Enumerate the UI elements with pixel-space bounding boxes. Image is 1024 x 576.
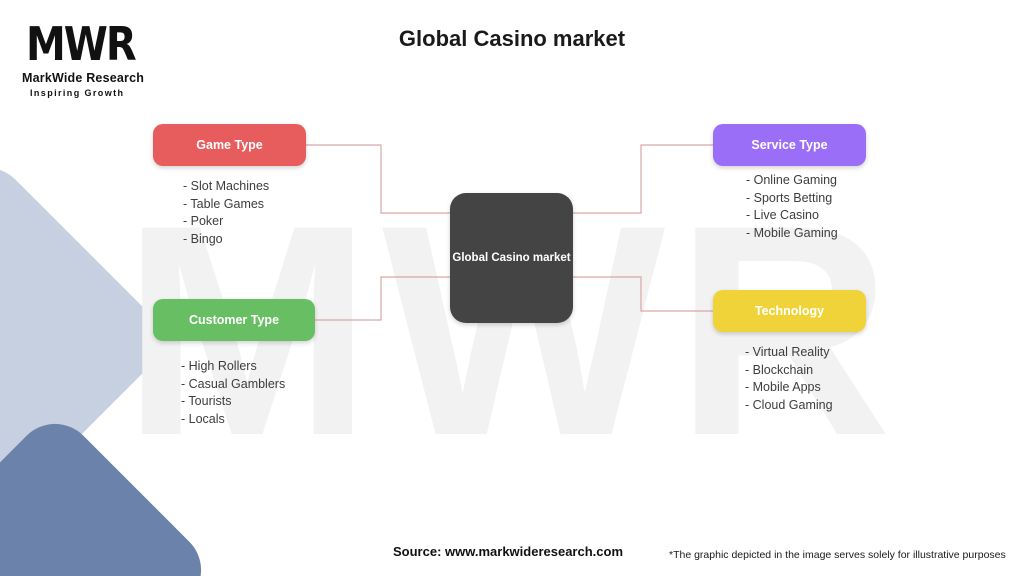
list-item: - Mobile Apps (745, 379, 833, 397)
disclaimer-note: *The graphic depicted in the image serve… (669, 549, 1006, 561)
center-node[interactable]: Global Casino market (450, 193, 573, 323)
list-item: - Slot Machines (183, 178, 269, 196)
list-item: - Live Casino (746, 207, 838, 225)
list-item: - Cloud Gaming (745, 397, 833, 415)
branch-label-customer-type: Customer Type (189, 313, 279, 327)
list-item: - Online Gaming (746, 172, 838, 190)
list-item: - Tourists (181, 393, 285, 411)
branch-label-game-type: Game Type (196, 138, 262, 152)
branch-node-game-type[interactable]: Game Type (153, 124, 306, 166)
list-item: - Poker (183, 213, 269, 231)
branch-node-service-type[interactable]: Service Type (713, 124, 866, 166)
center-node-label: Global Casino market (452, 252, 570, 264)
connector-customer-type (315, 277, 450, 320)
list-item: - Virtual Reality (745, 344, 833, 362)
list-item: - Sports Betting (746, 190, 838, 208)
branch-label-technology: Technology (755, 304, 824, 318)
list-item: - Mobile Gaming (746, 225, 838, 243)
branch-label-service-type: Service Type (751, 138, 827, 152)
source-label: Source: www.markwideresearch.com (393, 544, 623, 559)
item-list-service-type: - Online Gaming - Sports Betting - Live … (746, 172, 838, 242)
item-list-game-type: - Slot Machines - Table Games - Poker - … (183, 178, 269, 248)
list-item: - High Rollers (181, 358, 285, 376)
branch-node-customer-type[interactable]: Customer Type (153, 299, 315, 341)
item-list-technology: - Virtual Reality - Blockchain - Mobile … (745, 344, 833, 414)
slide-canvas: MWR MWR MarkWide Research Inspiring Grow… (0, 0, 1024, 576)
list-item: - Casual Gamblers (181, 376, 285, 394)
list-item: - Locals (181, 411, 285, 429)
item-list-customer-type: - High Rollers - Casual Gamblers - Touri… (181, 358, 285, 428)
list-item: - Bingo (183, 231, 269, 249)
branch-node-technology[interactable]: Technology (713, 290, 866, 332)
list-item: - Blockchain (745, 362, 833, 380)
list-item: - Table Games (183, 196, 269, 214)
connector-game-type (306, 145, 450, 213)
